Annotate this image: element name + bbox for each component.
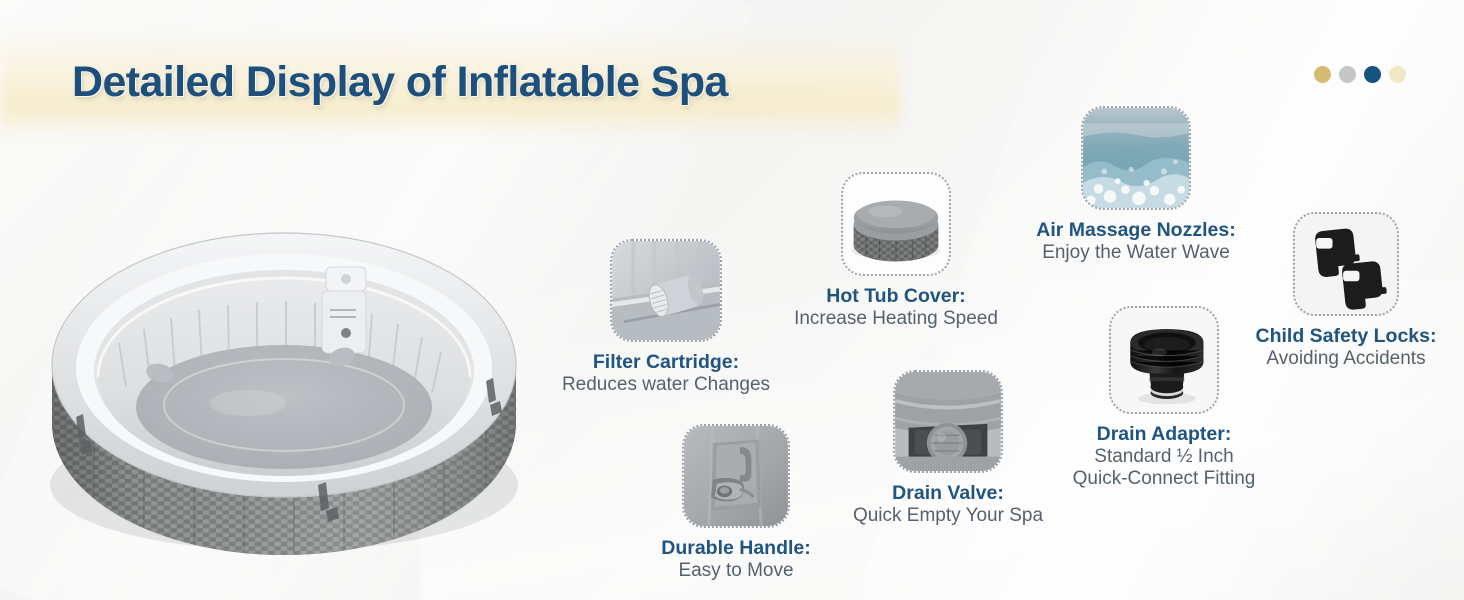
feature-title: Durable Handle: [622, 537, 850, 560]
hot-tub-cover-thumbnail[interactable] [841, 172, 951, 276]
drain-adapter-photo [1111, 308, 1217, 412]
durable-handle-caption: Durable Handle: Easy to Move [622, 537, 850, 582]
drain-valve-caption: Drain Valve: Quick Empty Your Spa [832, 482, 1064, 527]
filter-cartridge-thumbnail[interactable] [610, 239, 722, 342]
filter-cartridge-photo [612, 241, 720, 340]
safety-lock-keys-photo [1295, 214, 1397, 314]
feature-title: Drain Valve: [832, 482, 1064, 505]
feature-subtitle: Easy to Move [622, 560, 850, 583]
feature-subtitle: Standard ½ Inch [1040, 446, 1288, 469]
feature-title: Air Massage Nozzles: [1012, 219, 1260, 242]
feature-drain-valve: Drain Valve: Quick Empty Your Spa [832, 370, 1064, 527]
feature-air-massage-nozzles: Air Massage Nozzles: Enjoy the Water Wav… [1012, 106, 1260, 264]
dot-gray-icon [1339, 66, 1356, 83]
feature-title: Hot Tub Cover: [760, 285, 1032, 308]
page-title: Detailed Display of Inflatable Spa [72, 58, 728, 107]
durable-handle-photo [684, 426, 788, 526]
dot-navy-icon [1364, 66, 1381, 83]
dot-cream-icon [1389, 66, 1406, 83]
infographic-canvas: Detailed Display of Inflatable Spa [0, 0, 1464, 600]
feature-title: Drain Adapter: [1040, 423, 1288, 446]
color-swatch-dots [1314, 66, 1406, 83]
feature-subtitle: Quick Empty Your Spa [832, 505, 1064, 528]
drain-adapter-thumbnail[interactable] [1109, 306, 1219, 414]
drain-adapter-caption: Drain Adapter: Standard ½ Inch Quick-Con… [1040, 423, 1288, 491]
child-safety-locks-thumbnail[interactable] [1293, 212, 1399, 316]
dot-gold-icon [1314, 66, 1331, 83]
feature-durable-handle: Durable Handle: Easy to Move [622, 424, 850, 582]
bubbling-water-photo [1083, 108, 1189, 208]
hot-tub-cover-caption: Hot Tub Cover: Increase Heating Speed [760, 285, 1032, 330]
feature-title: Filter Cartridge: [521, 351, 811, 374]
feature-hot-tub-cover: Hot Tub Cover: Increase Heating Speed [760, 172, 1032, 330]
feature-subtitle: Quick-Connect Fitting [1040, 468, 1288, 491]
filter-cartridge-caption: Filter Cartridge: Reduces water Changes [521, 351, 811, 396]
hot-tub-cover-photo [843, 174, 949, 274]
feature-subtitle: Enjoy the Water Wave [1012, 242, 1260, 265]
feature-subtitle: Increase Heating Speed [760, 308, 1032, 331]
drain-valve-photo [895, 372, 1001, 471]
air-massage-nozzles-caption: Air Massage Nozzles: Enjoy the Water Wav… [1012, 219, 1260, 264]
feature-drain-adapter: Drain Adapter: Standard ½ Inch Quick-Con… [1040, 306, 1288, 491]
air-massage-nozzles-thumbnail[interactable] [1081, 106, 1191, 210]
hero-product-image [34, 155, 534, 555]
durable-handle-thumbnail[interactable] [682, 424, 790, 528]
drain-valve-thumbnail[interactable] [893, 370, 1003, 473]
feature-subtitle: Reduces water Changes [521, 374, 811, 397]
